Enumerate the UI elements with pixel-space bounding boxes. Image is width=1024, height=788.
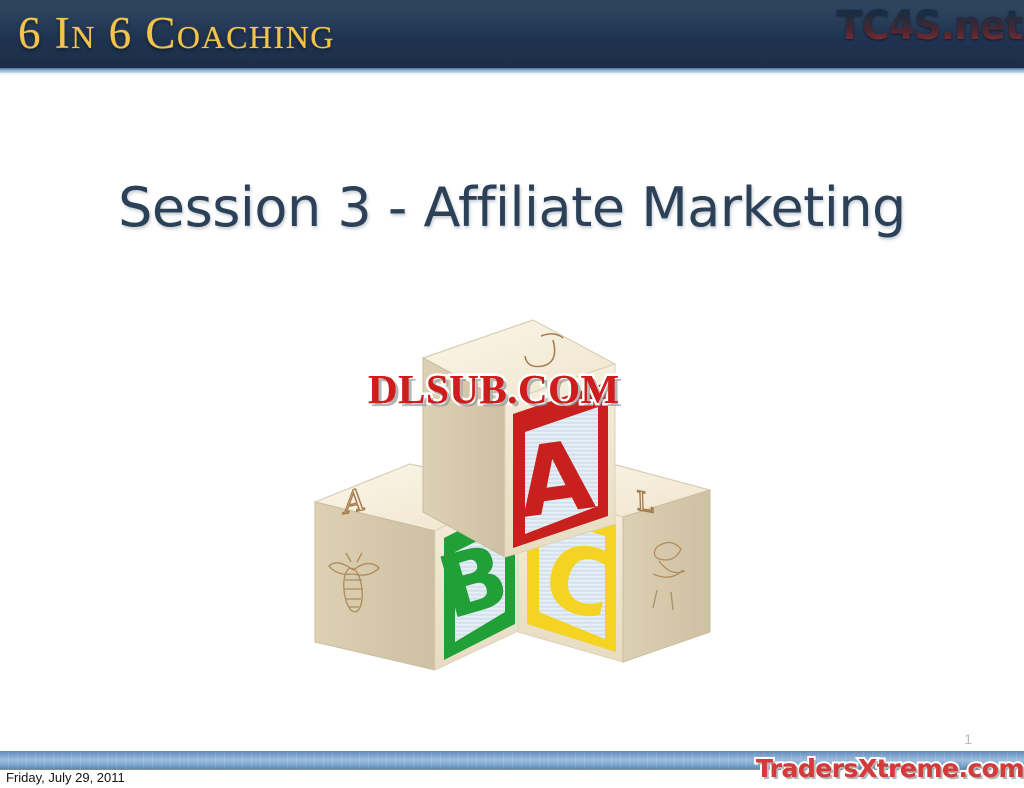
block-letter-a: A bbox=[511, 419, 600, 540]
block-a: A bbox=[423, 320, 615, 557]
site-logo-tc4s: TC4S.net bbox=[837, 0, 1022, 54]
engraving-a: A bbox=[342, 482, 366, 522]
presentation-slide: 6 In 6 Coaching TC4S.net Session 3 - Aff… bbox=[0, 0, 1024, 788]
brand-title: 6 In 6 Coaching bbox=[18, 4, 335, 62]
slide-header-bar: 6 In 6 Coaching TC4S.net bbox=[0, 0, 1024, 68]
watermark-dlsub-fill: DLSUB.COM bbox=[368, 366, 620, 412]
header-underline-highlight bbox=[0, 73, 1024, 75]
footer-logo-wrap: TradersXtreme.com bbox=[756, 752, 1024, 786]
slide-title: Session 3 - Affiliate Marketing bbox=[0, 172, 1024, 244]
slide-number: 1 bbox=[964, 730, 972, 748]
footer-date: Friday, July 29, 2011 bbox=[6, 769, 125, 786]
footer-logo-tradersxtreme: TradersXtreme.com bbox=[756, 752, 1024, 786]
engraving-l: L bbox=[636, 486, 654, 519]
